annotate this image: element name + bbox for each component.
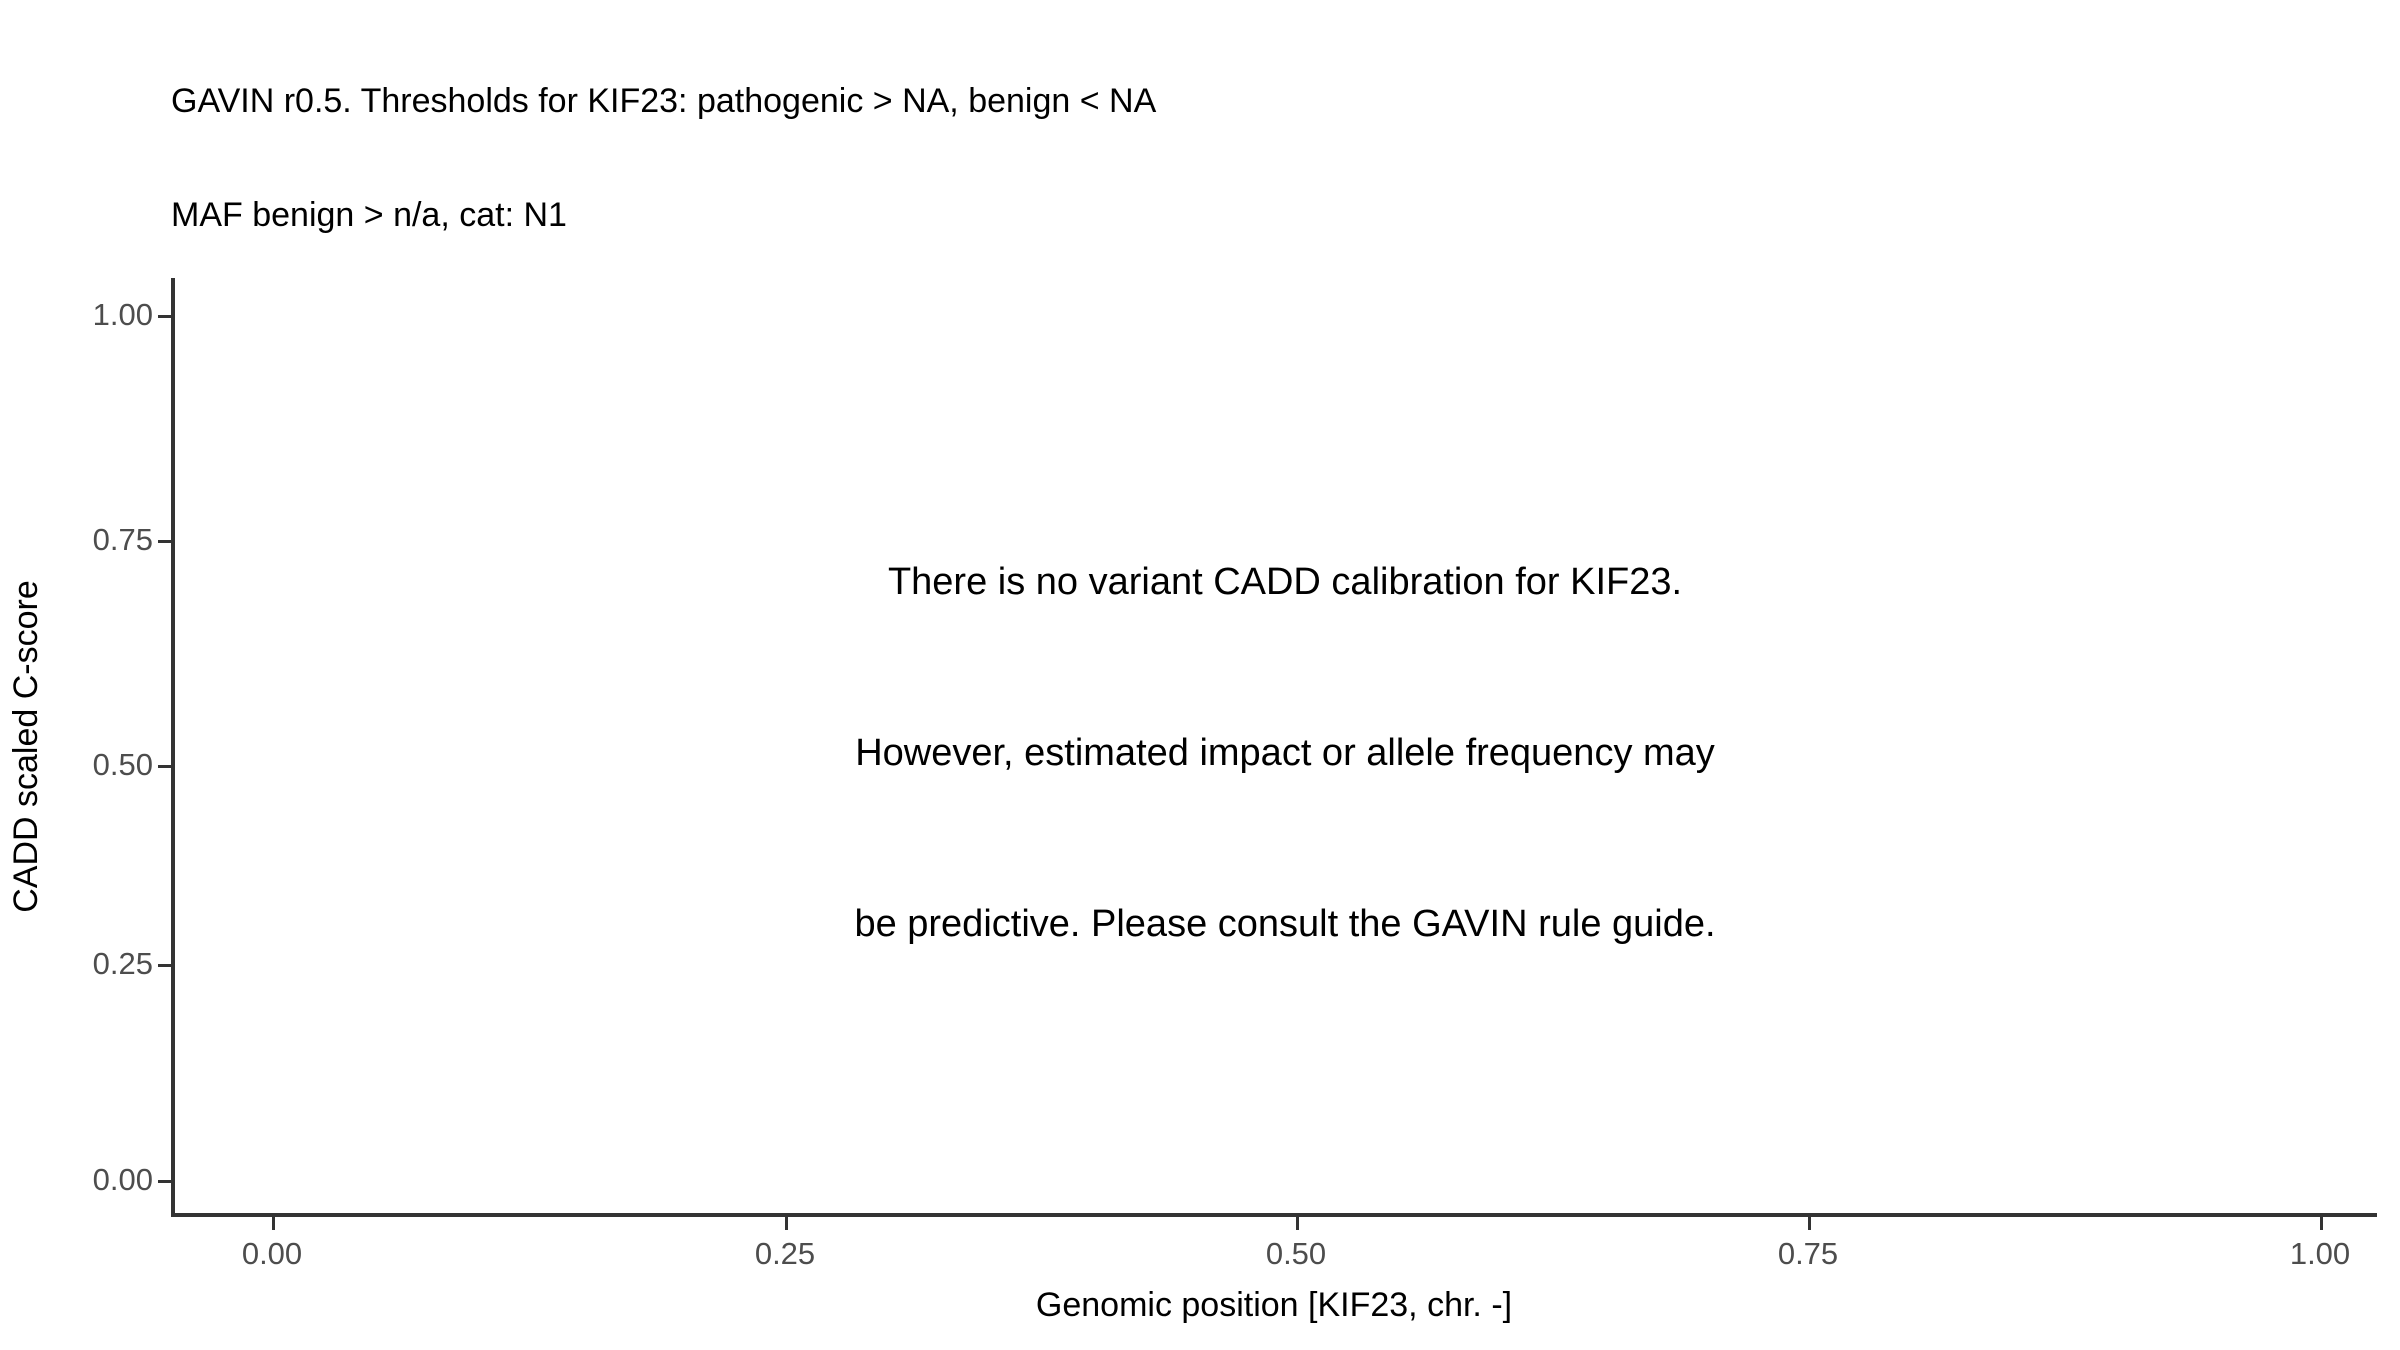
x-axis-line [171, 1213, 2377, 1217]
y-tick-mark-2 [158, 540, 171, 543]
x-tick-label-5: 1.00 [2290, 1236, 2350, 1272]
y-tick-mark-4 [158, 964, 171, 967]
y-axis-line [171, 278, 175, 1217]
y-axis-title: CADD scaled C-score [0, 278, 52, 1215]
x-tick-label-4: 0.75 [1778, 1236, 1838, 1272]
x-tick-mark-4 [1808, 1217, 1811, 1230]
panel-annotation-line-1: There is no variant CADD calibration for… [285, 554, 2285, 611]
x-tick-label-2: 0.25 [755, 1236, 815, 1272]
x-tick-mark-5 [2320, 1217, 2323, 1230]
plot-title-line-1: GAVIN r0.5. Thresholds for KIF23: pathog… [171, 82, 2371, 120]
y-tick-mark-5 [158, 1180, 171, 1183]
y-tick-mark-3 [158, 765, 171, 768]
y-tick-label-5: 0.00 [93, 1162, 153, 1198]
y-tick-label-1: 1.00 [93, 297, 153, 333]
plot-panel: There is no variant CADD calibration for… [171, 278, 2377, 1215]
x-tick-mark-1 [272, 1217, 275, 1230]
x-tick-mark-2 [785, 1217, 788, 1230]
y-tick-mark-1 [158, 315, 171, 318]
x-tick-mark-3 [1296, 1217, 1299, 1230]
panel-annotation-line-3: be predictive. Please consult the GAVIN … [285, 896, 2285, 953]
x-tick-label-1: 0.00 [242, 1236, 302, 1272]
x-axis-title: Genomic position [KIF23, chr. -] [171, 1286, 2377, 1325]
y-tick-label-2: 0.75 [93, 522, 153, 558]
x-tick-label-3: 0.50 [1266, 1236, 1326, 1272]
y-tick-label-4: 0.25 [93, 946, 153, 982]
plot-title-line-2: MAF benign > n/a, cat: N1 [171, 196, 2371, 234]
panel-annotation: There is no variant CADD calibration for… [285, 440, 2285, 1067]
gavin-cadd-calibration-plot: { "chart_data": { "type": "scatter", "ti… [0, 0, 2400, 1350]
panel-annotation-line-2: However, estimated impact or allele freq… [285, 725, 2285, 782]
y-tick-label-3: 0.50 [93, 747, 153, 783]
